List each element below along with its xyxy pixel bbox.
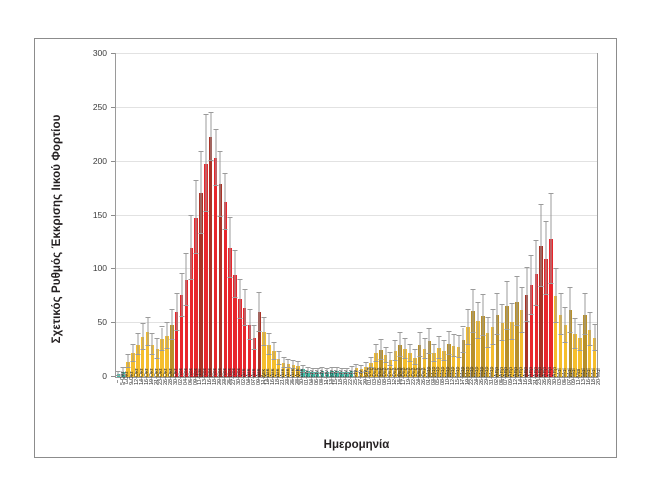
y-axis-tick-label: 300 bbox=[63, 49, 107, 57]
error-bar-cap bbox=[150, 354, 155, 355]
bar bbox=[209, 137, 212, 377]
error-bar-cap bbox=[369, 357, 374, 358]
x-axis-tick-mark bbox=[151, 380, 152, 383]
x-axis-tick-mark bbox=[375, 380, 376, 383]
error-bar-cap bbox=[466, 344, 471, 345]
bar-group bbox=[457, 54, 460, 377]
error-bar-cap bbox=[223, 173, 228, 174]
x-axis-tick-mark bbox=[530, 380, 531, 383]
error-bar-cap bbox=[155, 338, 160, 339]
error-bar-cap bbox=[509, 303, 514, 304]
error-bar-cap bbox=[480, 294, 485, 295]
bar-group bbox=[122, 54, 125, 377]
x-axis-tick-mark bbox=[341, 380, 342, 383]
error-bar-cap bbox=[276, 351, 281, 352]
error-bar-cap bbox=[393, 340, 398, 341]
error-bar bbox=[385, 348, 386, 363]
error-bar-cap bbox=[165, 322, 170, 323]
error-bar-cap bbox=[456, 357, 461, 358]
error-bar-cap bbox=[514, 276, 519, 277]
error-bar-cap bbox=[223, 229, 228, 230]
x-axis-tick-mark bbox=[550, 380, 551, 383]
x-axis-tick-mark bbox=[336, 380, 337, 383]
error-bar bbox=[507, 282, 508, 329]
x-axis-tick-mark bbox=[287, 380, 288, 383]
error-bar-cap bbox=[475, 338, 480, 339]
bar-group bbox=[253, 54, 256, 377]
error-bar bbox=[516, 277, 517, 327]
error-bar-cap bbox=[262, 317, 267, 318]
x-axis-tick-mark bbox=[540, 380, 541, 383]
bar-group bbox=[525, 54, 528, 377]
error-bar-cap bbox=[203, 211, 208, 212]
error-bar bbox=[215, 130, 216, 186]
error-bar-cap bbox=[145, 317, 150, 318]
error-bar-cap bbox=[524, 321, 529, 322]
bar-group bbox=[160, 54, 163, 377]
bar-group bbox=[311, 54, 314, 377]
bar-group bbox=[136, 54, 139, 377]
error-bar bbox=[235, 251, 236, 298]
error-bar-cap bbox=[242, 289, 247, 290]
bar-group bbox=[471, 54, 474, 377]
error-bar-cap bbox=[524, 267, 529, 268]
bar-group bbox=[481, 54, 484, 377]
error-bar bbox=[181, 274, 182, 317]
bar-group bbox=[544, 54, 547, 377]
bar-group bbox=[350, 54, 353, 377]
bar-group bbox=[369, 54, 372, 377]
bar-group bbox=[452, 54, 455, 377]
error-bar-cap bbox=[577, 350, 582, 351]
bar-group bbox=[466, 54, 469, 377]
error-bar-cap bbox=[509, 339, 514, 340]
error-bar-cap bbox=[140, 323, 145, 324]
error-bar bbox=[147, 318, 148, 346]
x-axis-tick-mark bbox=[404, 380, 405, 383]
error-bar-cap bbox=[568, 332, 573, 333]
bar-group bbox=[248, 54, 251, 377]
error-bar-cap bbox=[126, 354, 131, 355]
x-axis-tick-mark bbox=[521, 380, 522, 383]
bar-group bbox=[287, 54, 290, 377]
error-bar-cap bbox=[155, 358, 160, 359]
x-axis-tick-mark bbox=[492, 380, 493, 383]
error-bar bbox=[259, 293, 260, 332]
bar-group bbox=[578, 54, 581, 377]
error-bar bbox=[414, 350, 415, 365]
error-bar-cap bbox=[587, 312, 592, 313]
x-axis-tick-mark bbox=[487, 380, 488, 383]
error-bar-cap bbox=[437, 336, 442, 337]
x-axis-tick-mark bbox=[273, 380, 274, 383]
x-axis-tick-mark bbox=[462, 380, 463, 383]
error-bar-cap bbox=[267, 333, 272, 334]
x-axis-tick-mark bbox=[312, 380, 313, 383]
x-axis-tick-mark bbox=[380, 380, 381, 383]
x-axis-title: Ημερομηνία bbox=[115, 439, 598, 451]
bar-group bbox=[379, 54, 382, 377]
x-axis-tick-mark bbox=[244, 380, 245, 383]
error-bar-cap bbox=[218, 151, 223, 152]
bar-group bbox=[554, 54, 557, 377]
error-bar-cap bbox=[359, 365, 364, 366]
error-bar-cap bbox=[403, 338, 408, 339]
bar-group bbox=[224, 54, 227, 377]
bar-group bbox=[442, 54, 445, 377]
bar-group bbox=[151, 54, 154, 377]
bar-group bbox=[204, 54, 207, 377]
x-axis-tick-mark bbox=[200, 380, 201, 383]
error-bar-cap bbox=[461, 352, 466, 353]
x-axis-tick-mark bbox=[594, 380, 595, 383]
bar-group bbox=[233, 54, 236, 377]
error-bar-cap bbox=[189, 279, 194, 280]
error-bar bbox=[132, 345, 133, 362]
error-bar-cap bbox=[262, 345, 267, 346]
error-bar bbox=[550, 194, 551, 284]
bar-group bbox=[437, 54, 440, 377]
error-bar-cap bbox=[281, 357, 286, 358]
x-axis-tick-mark bbox=[302, 380, 303, 383]
y-axis-tick-label: 200 bbox=[63, 157, 107, 165]
x-axis-tick-mark bbox=[278, 380, 279, 383]
x-axis-tick-mark bbox=[526, 380, 527, 383]
error-bar-cap bbox=[529, 255, 534, 256]
x-axis-tick-mark bbox=[545, 380, 546, 383]
bar-group bbox=[374, 54, 377, 377]
y-axis-tick-mark bbox=[111, 107, 115, 108]
error-bar-cap bbox=[407, 344, 412, 345]
error-bar-cap bbox=[252, 349, 257, 350]
y-axis-tick-label: 50 bbox=[63, 318, 107, 326]
bar-group bbox=[355, 54, 358, 377]
x-axis-tick-mark bbox=[506, 380, 507, 383]
x-axis-tick-mark bbox=[560, 380, 561, 383]
x-axis-tick-mark bbox=[516, 380, 517, 383]
error-bar bbox=[210, 113, 211, 160]
error-bar-cap bbox=[539, 286, 544, 287]
error-bar-cap bbox=[568, 287, 573, 288]
bar-group bbox=[408, 54, 411, 377]
error-bar bbox=[400, 333, 401, 357]
error-bar-cap bbox=[592, 350, 597, 351]
error-bar-cap bbox=[160, 350, 165, 351]
bar-group bbox=[403, 54, 406, 377]
x-axis-tick-mark bbox=[360, 380, 361, 383]
x-axis-tick-mark bbox=[409, 380, 410, 383]
error-bar-cap bbox=[398, 356, 403, 357]
error-bar bbox=[463, 328, 464, 354]
error-bar-cap bbox=[174, 293, 179, 294]
x-axis-tick-mark bbox=[215, 380, 216, 383]
error-bar-cap bbox=[563, 307, 568, 308]
error-bar bbox=[477, 303, 478, 340]
error-bar-cap bbox=[490, 344, 495, 345]
error-bar-cap bbox=[441, 360, 446, 361]
error-bar bbox=[409, 345, 410, 362]
error-bar bbox=[273, 343, 274, 360]
y-axis-tick-mark bbox=[111, 376, 115, 377]
error-bar-cap bbox=[140, 349, 145, 350]
x-axis-tick-mark bbox=[234, 380, 235, 383]
error-bar-cap bbox=[471, 289, 476, 290]
error-bar-cap bbox=[393, 360, 398, 361]
error-bar-cap bbox=[194, 180, 199, 181]
x-axis-tick-mark bbox=[181, 380, 182, 383]
bar-group bbox=[258, 54, 261, 377]
bar-group bbox=[292, 54, 295, 377]
x-axis-tick-mark bbox=[258, 380, 259, 383]
x-axis-tick-mark bbox=[496, 380, 497, 383]
error-bar bbox=[429, 329, 430, 355]
chart-figure: Σχετικός Ρυθμός Έκκρισης Ιικού Φορτίου 0… bbox=[34, 38, 617, 458]
error-bar-cap bbox=[490, 309, 495, 310]
x-axis-tick-mark bbox=[268, 380, 269, 383]
x-axis-tick-mark bbox=[589, 380, 590, 383]
error-bar bbox=[424, 339, 425, 358]
error-bar-cap bbox=[407, 361, 412, 362]
bar-group bbox=[296, 54, 299, 377]
error-bar-cap bbox=[495, 334, 500, 335]
bar bbox=[214, 158, 217, 377]
error-bar bbox=[545, 222, 546, 295]
x-axis-tick-mark bbox=[249, 380, 250, 383]
error-bar bbox=[453, 335, 454, 357]
error-bar-cap bbox=[174, 330, 179, 331]
bar-group bbox=[447, 54, 450, 377]
x-axis-tick-mark bbox=[351, 380, 352, 383]
error-bar-cap bbox=[130, 344, 135, 345]
error-bar-cap bbox=[582, 293, 587, 294]
error-bar-cap bbox=[276, 364, 281, 365]
error-bar-cap bbox=[461, 326, 466, 327]
error-bar-cap bbox=[529, 314, 534, 315]
error-bar-cap bbox=[218, 216, 223, 217]
error-bar-cap bbox=[403, 358, 408, 359]
error-bar-cap bbox=[349, 366, 354, 367]
x-axis-tick-mark bbox=[584, 380, 585, 383]
bar-group bbox=[588, 54, 591, 377]
bar-group bbox=[564, 54, 567, 377]
error-bar-cap bbox=[271, 342, 276, 343]
bar-group bbox=[428, 54, 431, 377]
x-axis-tick-mark bbox=[385, 380, 386, 383]
error-bar bbox=[570, 288, 571, 333]
error-bar-cap bbox=[582, 334, 587, 335]
bar-group bbox=[175, 54, 178, 377]
error-bar-cap bbox=[514, 325, 519, 326]
x-axis-tick-mark bbox=[195, 380, 196, 383]
error-bar bbox=[541, 205, 542, 287]
x-axis-tick-mark bbox=[190, 380, 191, 383]
error-bar bbox=[497, 294, 498, 335]
x-axis-tick-mark bbox=[210, 380, 211, 383]
bar-group bbox=[418, 54, 421, 377]
x-axis-tick-mark bbox=[137, 380, 138, 383]
bar-group bbox=[515, 54, 518, 377]
error-bar-cap bbox=[199, 151, 204, 152]
error-bar-cap bbox=[446, 331, 451, 332]
error-bar-cap bbox=[495, 293, 500, 294]
error-bar-cap bbox=[208, 112, 213, 113]
error-bar bbox=[555, 269, 556, 323]
error-bar-cap bbox=[500, 340, 505, 341]
error-bar bbox=[220, 152, 221, 217]
y-axis-tick-mark bbox=[111, 215, 115, 216]
error-bar bbox=[191, 216, 192, 281]
error-bar-cap bbox=[378, 359, 383, 360]
error-bar-cap bbox=[505, 329, 510, 330]
y-axis-tick-label: 100 bbox=[63, 264, 107, 272]
error-bar bbox=[526, 268, 527, 322]
error-bar bbox=[565, 308, 566, 342]
error-bar-cap bbox=[563, 342, 568, 343]
x-axis-tick-mark bbox=[390, 380, 391, 383]
x-axis-tick-mark bbox=[448, 380, 449, 383]
x-axis-tick-mark bbox=[132, 380, 133, 383]
error-bar-cap bbox=[169, 309, 174, 310]
error-bar bbox=[196, 181, 197, 254]
error-bar-cap bbox=[519, 287, 524, 288]
x-axis-tick-mark bbox=[283, 380, 284, 383]
error-bar bbox=[468, 310, 469, 344]
error-bar-cap bbox=[456, 335, 461, 336]
x-axis-labels: 5-Οκτ7-Οκτ9-Οκτ12-Οκτ14-Οκτ16-Οκτ19-Οκτ2… bbox=[115, 380, 598, 436]
x-axis-tick-mark bbox=[176, 380, 177, 383]
error-bar-cap bbox=[505, 281, 510, 282]
error-bar-cap bbox=[135, 333, 140, 334]
error-bar-cap bbox=[373, 344, 378, 345]
x-axis-tick-mark bbox=[443, 380, 444, 383]
error-bar-cap bbox=[184, 253, 189, 254]
error-bar-cap bbox=[441, 340, 446, 341]
bar-group bbox=[535, 54, 538, 377]
bar-group bbox=[228, 54, 231, 377]
x-axis-tick-mark bbox=[356, 380, 357, 383]
error-bar-cap bbox=[534, 305, 539, 306]
error-bar bbox=[492, 310, 493, 344]
error-bar bbox=[249, 310, 250, 340]
error-bar-cap bbox=[135, 354, 140, 355]
bar-group bbox=[413, 54, 416, 377]
x-axis-tick-mark bbox=[428, 380, 429, 383]
error-bar bbox=[244, 290, 245, 327]
error-bar-cap bbox=[199, 233, 204, 234]
bar-group bbox=[476, 54, 479, 377]
error-bar-cap bbox=[558, 334, 563, 335]
error-bar bbox=[269, 334, 270, 356]
bar-group bbox=[432, 54, 435, 377]
error-bar bbox=[167, 323, 168, 349]
error-bar-cap bbox=[543, 294, 548, 295]
error-bar-cap bbox=[179, 316, 184, 317]
error-bar-cap bbox=[242, 325, 247, 326]
error-bar-cap bbox=[398, 332, 403, 333]
error-bar-cap bbox=[534, 240, 539, 241]
error-bar bbox=[162, 328, 163, 352]
x-axis-tick-mark bbox=[346, 380, 347, 383]
error-bar bbox=[434, 345, 435, 362]
error-bar-cap bbox=[237, 279, 242, 280]
x-axis-tick-mark bbox=[424, 380, 425, 383]
bar-group bbox=[146, 54, 149, 377]
error-bar bbox=[439, 337, 440, 359]
error-bar-cap bbox=[388, 352, 393, 353]
error-bar-cap bbox=[422, 358, 427, 359]
x-axis-tick-mark bbox=[307, 380, 308, 383]
x-axis-tick-mark bbox=[511, 380, 512, 383]
error-bar-cap bbox=[233, 297, 238, 298]
error-bar bbox=[575, 319, 576, 349]
bar-group bbox=[238, 54, 241, 377]
bar-group bbox=[394, 54, 397, 377]
error-bar-cap bbox=[417, 356, 422, 357]
error-bar-cap bbox=[271, 359, 276, 360]
x-axis-tick-mark bbox=[414, 380, 415, 383]
bar-group bbox=[505, 54, 508, 377]
error-bar bbox=[201, 152, 202, 234]
bar-group bbox=[321, 54, 324, 377]
error-bar-cap bbox=[427, 353, 432, 354]
error-bar-cap bbox=[553, 322, 558, 323]
x-axis-tick-mark bbox=[574, 380, 575, 383]
error-bar-cap bbox=[257, 292, 262, 293]
bar-group bbox=[165, 54, 168, 377]
y-axis-tick-mark bbox=[111, 268, 115, 269]
error-bar bbox=[239, 280, 240, 319]
bar-group bbox=[398, 54, 401, 377]
error-bar-cap bbox=[437, 358, 442, 359]
error-bar-cap bbox=[213, 129, 218, 130]
bar-group bbox=[549, 54, 552, 377]
bar-group bbox=[141, 54, 144, 377]
x-axis-tick-mark bbox=[142, 380, 143, 383]
bar-group bbox=[491, 54, 494, 377]
error-bar-cap bbox=[417, 332, 422, 333]
bar-group bbox=[199, 54, 202, 377]
x-axis-tick-mark bbox=[317, 380, 318, 383]
bar-group bbox=[219, 54, 222, 377]
bar-group bbox=[462, 54, 465, 377]
x-axis-tick-mark bbox=[171, 380, 172, 383]
x-axis-tick-mark bbox=[326, 380, 327, 383]
bar-group bbox=[194, 54, 197, 377]
error-bar-cap bbox=[165, 348, 170, 349]
error-bar bbox=[225, 174, 226, 230]
bar-group bbox=[486, 54, 489, 377]
error-bar bbox=[205, 115, 206, 212]
error-bar bbox=[560, 294, 561, 335]
error-bar-cap bbox=[179, 273, 184, 274]
plot-area bbox=[115, 53, 598, 378]
x-axis-tick-mark bbox=[219, 380, 220, 383]
bar-group bbox=[262, 54, 265, 377]
error-bar-cap bbox=[412, 349, 417, 350]
error-bar-cap bbox=[587, 345, 592, 346]
error-bar-cap bbox=[378, 339, 383, 340]
error-bar-cap bbox=[189, 215, 194, 216]
x-axis-tick-mark bbox=[117, 380, 118, 383]
error-bar-cap bbox=[126, 367, 131, 368]
x-axis-tick-mark bbox=[453, 380, 454, 383]
bar-group bbox=[593, 54, 596, 377]
bar-group bbox=[335, 54, 338, 377]
x-axis-tick-label: 20-Μαϊ bbox=[596, 368, 602, 385]
bar-group bbox=[364, 54, 367, 377]
x-axis-tick-mark bbox=[147, 380, 148, 383]
bar-group bbox=[190, 54, 193, 377]
